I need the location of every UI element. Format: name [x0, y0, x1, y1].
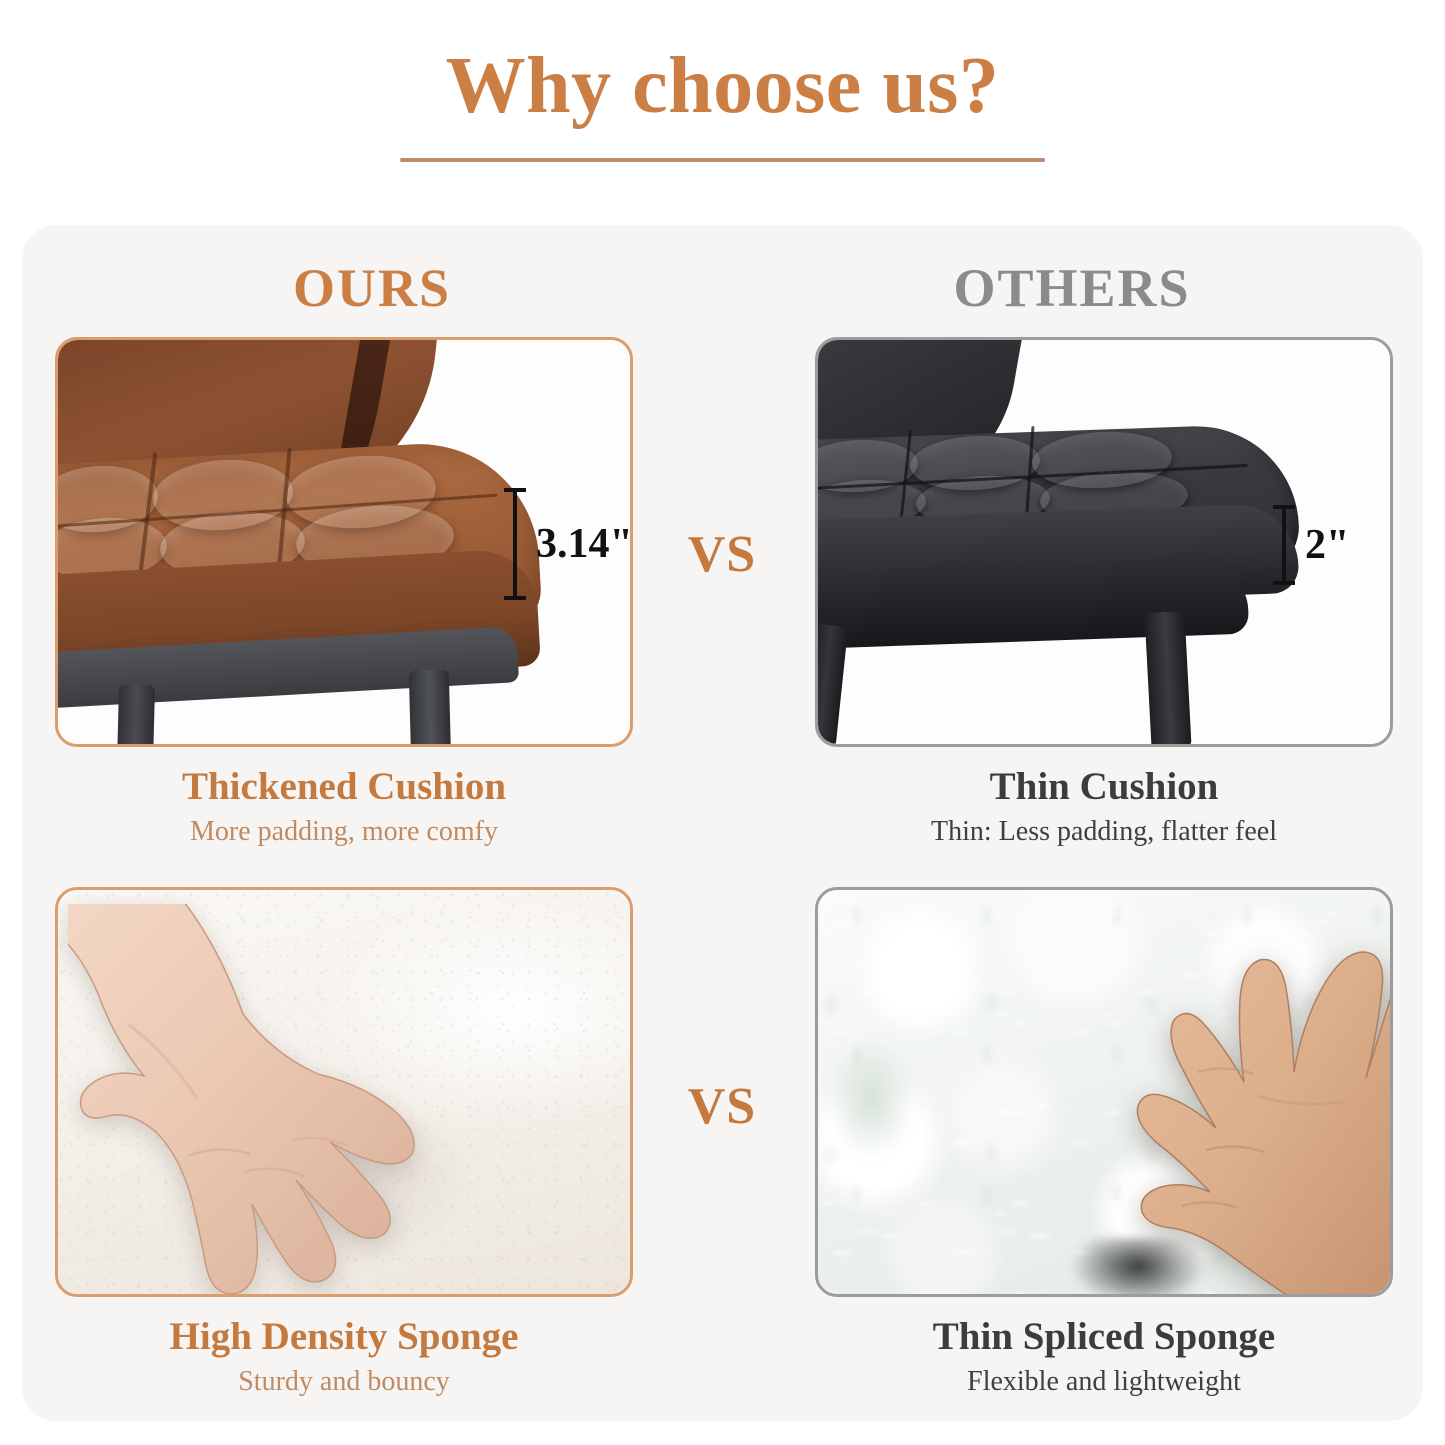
photo-fiberfill-hand — [818, 890, 1390, 1294]
caption-subtitle-ours-sponge: Sturdy and bouncy — [55, 1364, 633, 1399]
caption-others-sponge: Thin Spliced Sponge Flexible and lightwe… — [815, 1297, 1393, 1399]
caption-subtitle-ours-cushion: More padding, more comfy — [55, 814, 633, 849]
caption-ours-cushion: Thickened Cushion More padding, more com… — [55, 747, 633, 849]
caption-title-others-sponge: Thin Spliced Sponge — [815, 1315, 1393, 1360]
caption-title-others-cushion: Thin Cushion — [815, 765, 1393, 810]
caption-title-ours-cushion: Thickened Cushion — [55, 765, 633, 810]
column-header-ours: OURS — [22, 261, 722, 315]
caption-subtitle-others-cushion: Thin: Less padding, flatter feel — [815, 814, 1393, 849]
dimension-bar-icon — [1273, 505, 1295, 585]
photo-frame-others-cushion: 2" — [815, 337, 1393, 747]
dimension-value-others: 2" — [1305, 521, 1349, 569]
cell-others-cushion: 2" Thin Cushion Thin: Less padding, flat… — [815, 337, 1393, 849]
comparison-row-sponge: High Density Sponge Sturdy and bouncy VS — [22, 887, 1423, 1407]
dimension-value-ours: 3.14" — [536, 520, 633, 568]
cell-ours-sponge: High Density Sponge Sturdy and bouncy — [55, 887, 633, 1399]
caption-subtitle-others-sponge: Flexible and lightweight — [815, 1364, 1393, 1399]
cell-ours-cushion: 3.14" Thickened Cushion More padding, mo… — [55, 337, 633, 849]
vs-badge-row2: VS — [662, 1077, 782, 1136]
comparison-row-cushion: 3.14" Thickened Cushion More padding, mo… — [22, 337, 1423, 847]
page-header: Why choose us? — [0, 0, 1445, 162]
photo-frame-ours-cushion: 3.14" — [55, 337, 633, 747]
title-divider — [400, 158, 1045, 162]
photo-frame-others-sponge — [815, 887, 1393, 1297]
vs-badge-row1: VS — [662, 525, 782, 584]
comparison-panel: OURS OTHERS — [22, 225, 1423, 1421]
page-title: Why choose us? — [0, 44, 1445, 128]
caption-ours-sponge: High Density Sponge Sturdy and bouncy — [55, 1297, 633, 1399]
dimension-annotation-others-cushion: 2" — [1273, 505, 1349, 585]
caption-title-ours-sponge: High Density Sponge — [55, 1315, 633, 1360]
photo-frame-ours-sponge — [55, 887, 633, 1297]
column-header-others: OTHERS — [722, 261, 1422, 315]
caption-others-cushion: Thin Cushion Thin: Less padding, flatter… — [815, 747, 1393, 849]
photo-dense-foam-hand — [58, 890, 630, 1294]
dimension-annotation-ours-cushion: 3.14" — [504, 488, 633, 600]
cell-others-sponge: Thin Spliced Sponge Flexible and lightwe… — [815, 887, 1393, 1399]
dimension-bar-icon — [504, 488, 526, 600]
hand-illustration — [68, 904, 498, 1294]
hand-illustration — [958, 896, 1390, 1294]
column-headers: OURS OTHERS — [22, 261, 1423, 333]
